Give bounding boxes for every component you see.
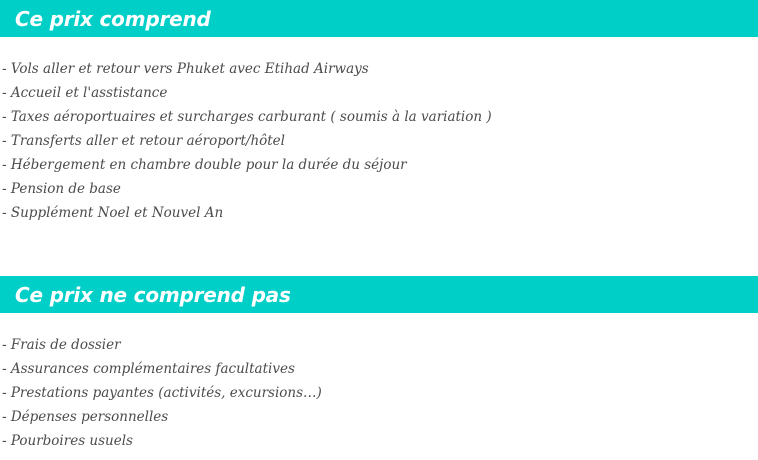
list-item: - Frais de dossier xyxy=(2,333,758,357)
section-header-excluded: Ce prix ne comprend pas xyxy=(0,276,758,313)
list-item: - Hébergement en chambre double pour la … xyxy=(2,153,758,177)
list-item: - Assurances complémentaires facultative… xyxy=(2,357,758,381)
list-item: - Supplément Noel et Nouvel An xyxy=(2,201,758,225)
list-item: - Pourboires usuels xyxy=(2,429,758,453)
list-item: - Taxes aéroportuaires et surcharges car… xyxy=(2,105,758,129)
list-item: - Pension de base xyxy=(2,177,758,201)
section-list-excluded: - Frais de dossier - Assurances compléme… xyxy=(0,313,758,453)
section-spacer xyxy=(0,225,758,276)
section-title-excluded: Ce prix ne comprend pas xyxy=(15,285,291,305)
list-item: - Dépenses personnelles xyxy=(2,405,758,429)
list-item: - Prestations payantes (activités, excur… xyxy=(2,381,758,405)
list-item: - Transferts aller et retour aéroport/hô… xyxy=(2,129,758,153)
section-list-included: - Vols aller et retour vers Phuket avec … xyxy=(0,37,758,225)
list-item: - Accueil et l'asstistance xyxy=(2,81,758,105)
price-details-page: Ce prix comprend - Vols aller et retour … xyxy=(0,0,758,460)
section-included: Ce prix comprend - Vols aller et retour … xyxy=(0,0,758,225)
section-header-included: Ce prix comprend xyxy=(0,0,758,37)
section-title-included: Ce prix comprend xyxy=(15,9,211,29)
section-excluded: Ce prix ne comprend pas - Frais de dossi… xyxy=(0,276,758,453)
list-item: - Vols aller et retour vers Phuket avec … xyxy=(2,57,758,81)
